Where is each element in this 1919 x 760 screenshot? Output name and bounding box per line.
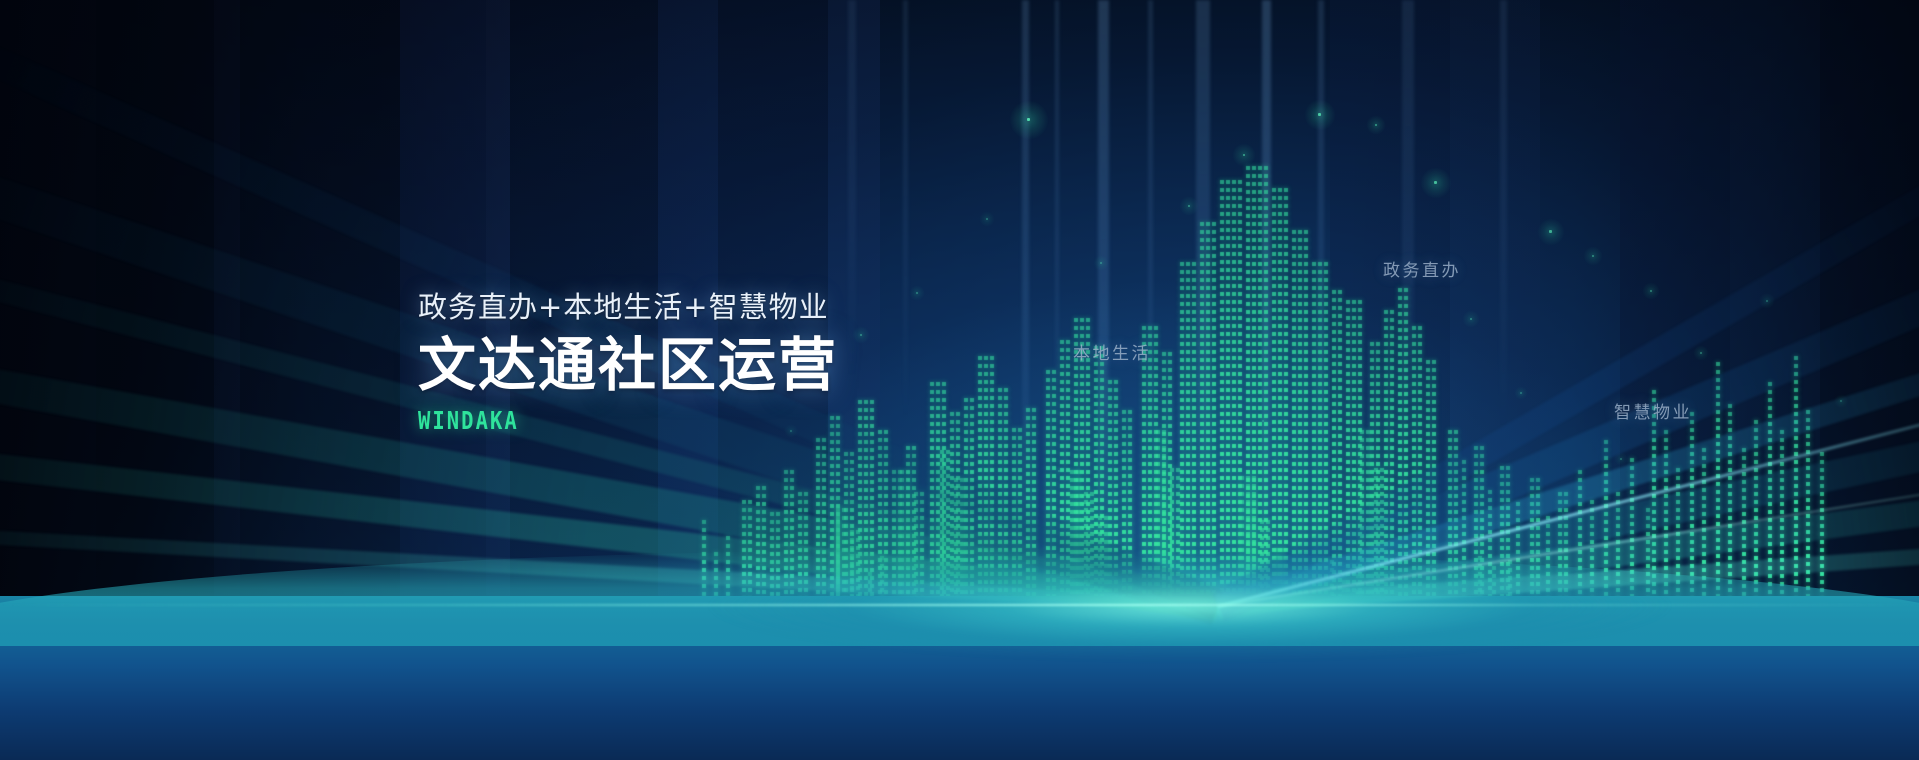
hero-banner: 政务直办 本地生活 智慧物业 政务直办+本地生活+智慧物业 文达通社区运营 WI… (0, 0, 1919, 760)
hero-subtitle: 政务直办+本地生活+智慧物业 (418, 290, 838, 325)
brand-name: WINDAKA (418, 406, 762, 435)
floating-label-bendi: 本地生活 (1073, 339, 1151, 364)
hero-headline: 文达通社区运营 (418, 334, 838, 397)
horizon-line (0, 604, 1919, 606)
horizon-glow (0, 546, 1919, 666)
floating-label-zhengwu: 政务直办 (1383, 256, 1461, 281)
hero-text-block: 政务直办+本地生活+智慧物业 文达通社区运营 WINDAKA (418, 290, 838, 435)
floating-label-zhihui: 智慧物业 (1614, 398, 1692, 423)
